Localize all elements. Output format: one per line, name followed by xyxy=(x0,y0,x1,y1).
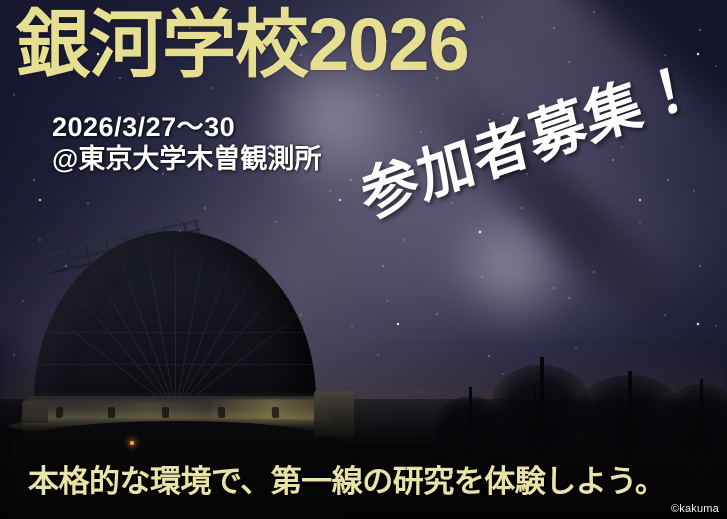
tree-crown xyxy=(661,384,727,452)
event-date: 2026/3/27〜30 xyxy=(52,112,321,142)
page-title: 銀河学校2026 xyxy=(16,8,469,82)
event-venue: @東京大学木曽観測所 xyxy=(52,144,321,174)
dome-right-fixture xyxy=(314,391,354,437)
photo-credit: ©kakuma xyxy=(671,503,719,515)
dome-left-fixture xyxy=(22,401,48,423)
event-meta: 2026/3/27〜30 @東京大学木曽観測所 xyxy=(52,112,321,174)
orange-lamp xyxy=(130,441,134,445)
poster-root: 銀河学校2026 2026/3/27〜30 @東京大学木曽観測所 参加者募集！ … xyxy=(0,0,727,519)
tagline: 本格的な環境で、第一線の研究を体験しよう。 xyxy=(28,456,665,501)
tree xyxy=(663,379,727,483)
